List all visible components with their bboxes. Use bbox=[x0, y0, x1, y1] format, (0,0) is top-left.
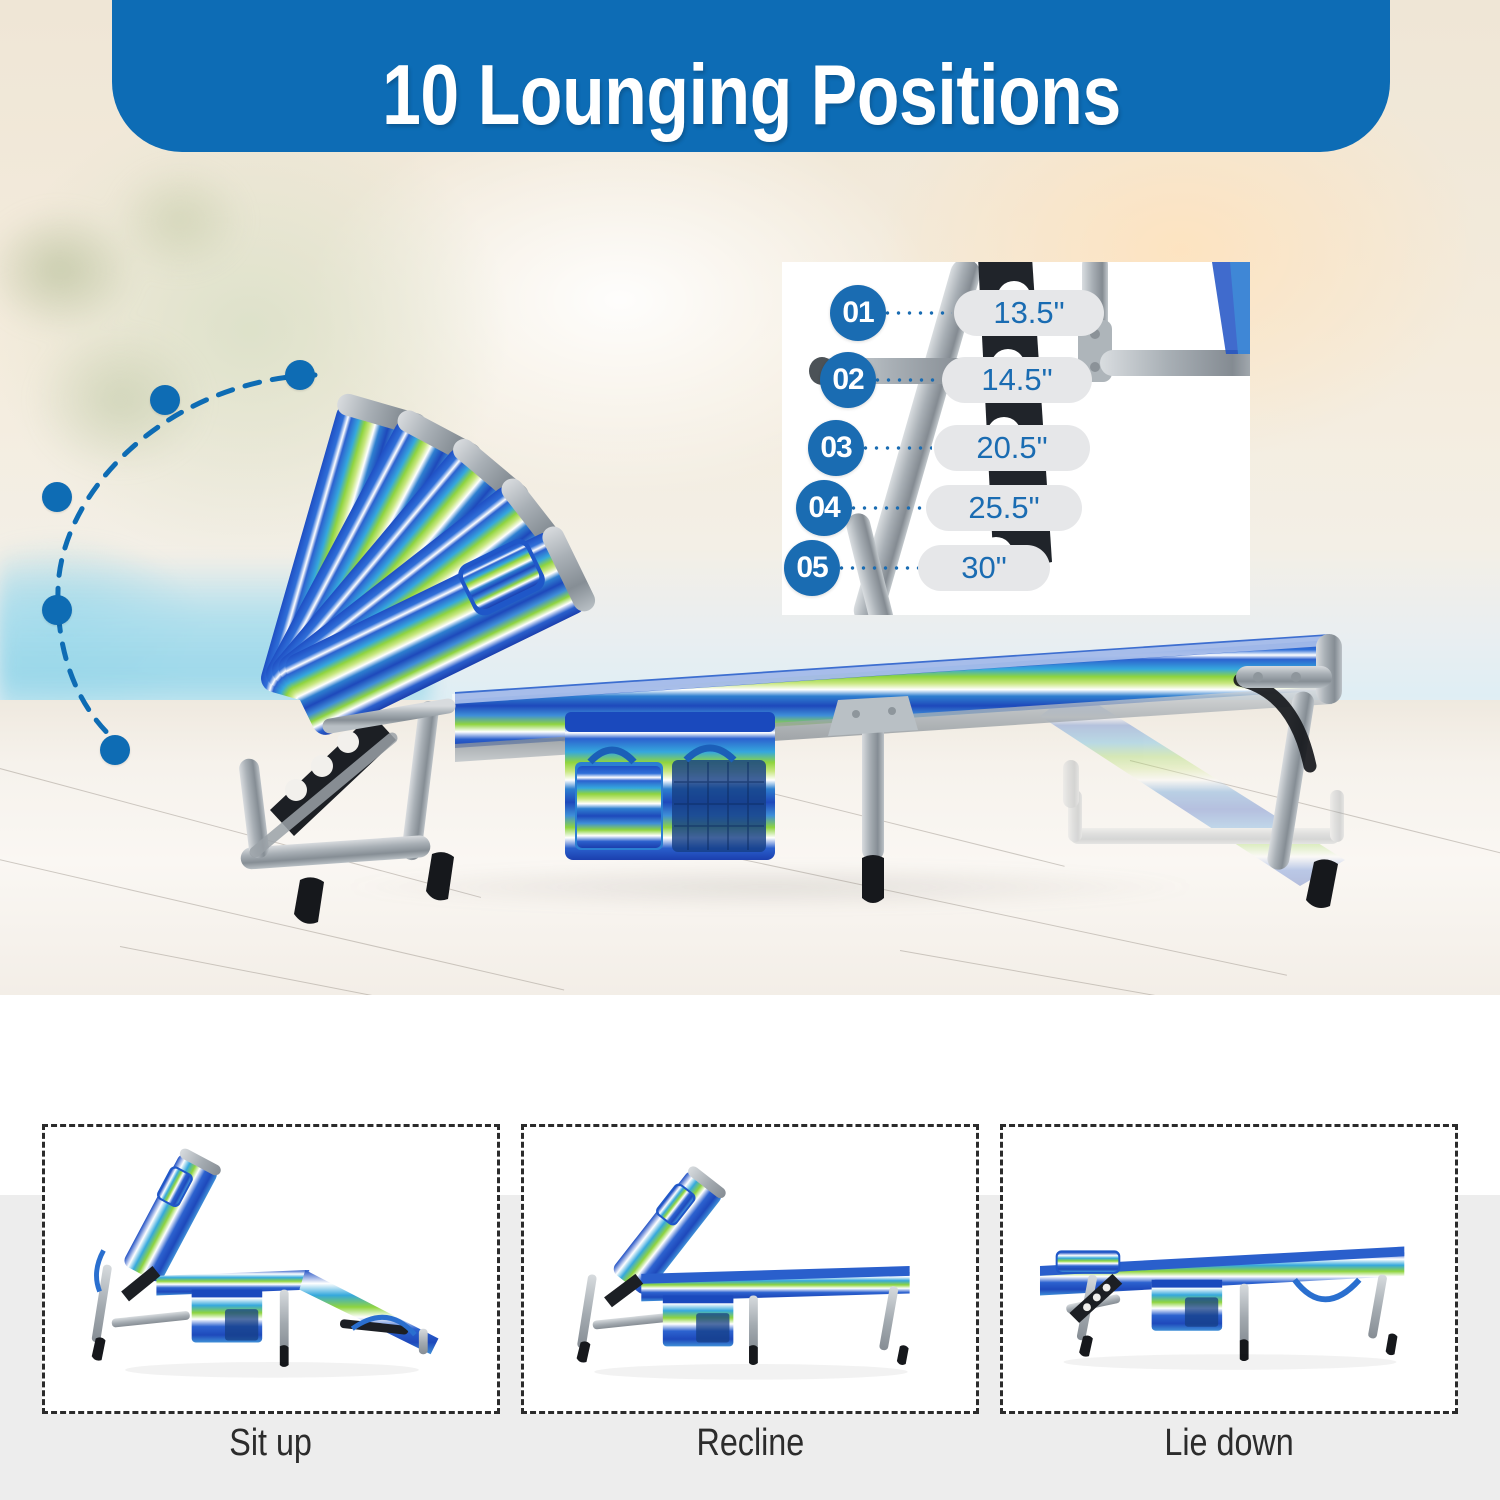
position-value-04: 25.5" bbox=[926, 485, 1082, 531]
connector-line-2 bbox=[872, 378, 940, 382]
position-value-02: 14.5" bbox=[942, 357, 1092, 403]
arc-dot-4 bbox=[42, 595, 72, 625]
position-value-01: 13.5" bbox=[954, 290, 1104, 336]
thumbnail-sit-up bbox=[45, 1127, 497, 1411]
thumbnail-recline bbox=[524, 1127, 976, 1411]
connector-line-3 bbox=[860, 446, 932, 450]
thumbnail-lie-down bbox=[1003, 1127, 1455, 1411]
backrest-arc bbox=[20, 340, 350, 760]
panel-label-lie-down: Lie down bbox=[1000, 1424, 1458, 1462]
connector-line-1 bbox=[882, 311, 952, 315]
position-value-03: 20.5" bbox=[934, 425, 1090, 471]
position-badge-02: 02 bbox=[820, 352, 876, 408]
panel-label-sit-up: Sit up bbox=[42, 1424, 500, 1462]
arc-dot-3 bbox=[42, 482, 72, 512]
panel-label-recline: Recline bbox=[521, 1424, 979, 1462]
position-badge-01: 01 bbox=[830, 285, 886, 341]
panel-recline bbox=[521, 1124, 979, 1414]
connector-line-5 bbox=[836, 566, 920, 570]
panel-sit-up bbox=[42, 1124, 500, 1414]
arc-dot-2 bbox=[150, 385, 180, 415]
infographic-page: 10 Lounging Positions bbox=[0, 0, 1500, 1500]
header-banner: 10 Lounging Positions bbox=[112, 0, 1390, 152]
side-pocket-organizer bbox=[565, 712, 775, 860]
position-value-05: 30" bbox=[918, 545, 1050, 591]
position-badge-05: 05 bbox=[784, 540, 840, 596]
position-badge-04: 04 bbox=[796, 480, 852, 536]
page-title: 10 Lounging Positions bbox=[382, 53, 1121, 138]
arc-dot-5 bbox=[100, 735, 130, 765]
measurement-callout-panel: 01 13.5" 02 14.5" 03 20.5" 04 25.5" 05 3… bbox=[782, 262, 1250, 615]
panel-lie-down bbox=[1000, 1124, 1458, 1414]
position-badge-03: 03 bbox=[808, 420, 864, 476]
connector-line-4 bbox=[848, 506, 926, 510]
arc-dot-1 bbox=[285, 360, 315, 390]
